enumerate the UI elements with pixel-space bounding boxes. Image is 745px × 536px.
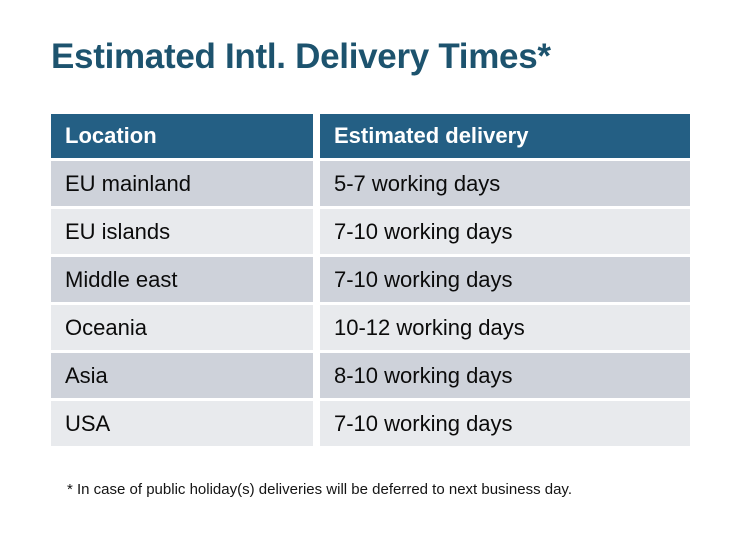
cell-location: Asia: [51, 353, 313, 398]
table-row: Middle east 7-10 working days: [51, 257, 690, 302]
cell-estimated-delivery: 7-10 working days: [320, 257, 690, 302]
cell-location: USA: [51, 401, 313, 446]
page-title: Estimated Intl. Delivery Times*: [51, 36, 551, 78]
table-row: USA 7-10 working days: [51, 401, 690, 446]
cell-location: EU mainland: [51, 161, 313, 206]
column-header-estimated-delivery: Estimated delivery: [320, 114, 690, 158]
table-row: Asia 8-10 working days: [51, 353, 690, 398]
delivery-times-page: Estimated Intl. Delivery Times* Location…: [0, 0, 745, 536]
cell-estimated-delivery: 10-12 working days: [320, 305, 690, 350]
table-header-row: Location Estimated delivery: [51, 114, 690, 158]
table-row: EU mainland 5-7 working days: [51, 161, 690, 206]
cell-location: Oceania: [51, 305, 313, 350]
cell-location: EU islands: [51, 209, 313, 254]
cell-estimated-delivery: 5-7 working days: [320, 161, 690, 206]
table-row: Oceania 10-12 working days: [51, 305, 690, 350]
cell-estimated-delivery: 8-10 working days: [320, 353, 690, 398]
cell-estimated-delivery: 7-10 working days: [320, 401, 690, 446]
cell-estimated-delivery: 7-10 working days: [320, 209, 690, 254]
cell-location: Middle east: [51, 257, 313, 302]
footnote-text: * In case of public holiday(s) deliverie…: [67, 481, 572, 498]
column-header-location: Location: [51, 114, 313, 158]
delivery-times-table: Location Estimated delivery EU mainland …: [51, 114, 690, 449]
table-row: EU islands 7-10 working days: [51, 209, 690, 254]
